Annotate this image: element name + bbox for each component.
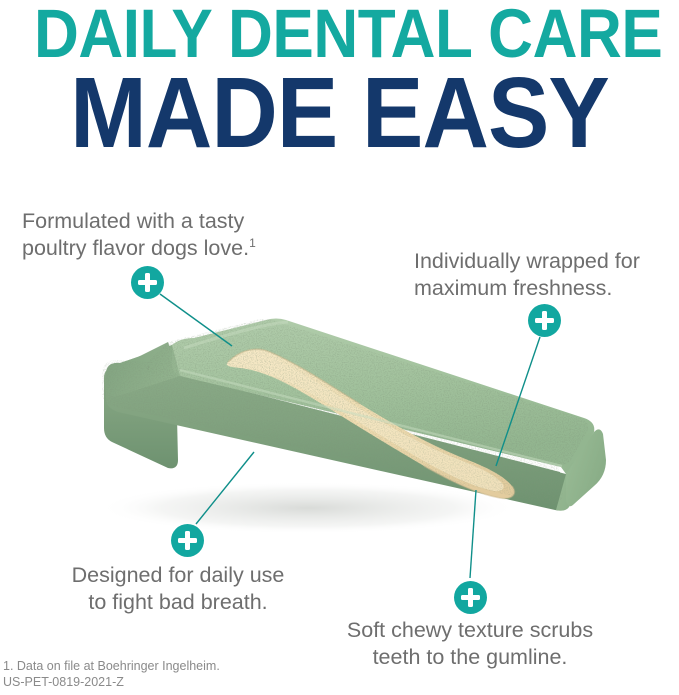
- callout-flavor-line-2: poultry flavor dogs love.1: [22, 235, 256, 262]
- callout-flavor-line-1: Formulated with a tasty: [22, 208, 256, 235]
- callout-breath: Designed for daily use to fight bad brea…: [58, 562, 298, 616]
- plus-icon-flavor[interactable]: [131, 266, 164, 299]
- callout-breath-line-2: to fight bad breath.: [58, 589, 298, 616]
- product-image-dental-chew: [60, 300, 620, 550]
- headline-line-2: MADE EASY: [27, 66, 652, 160]
- callout-texture-line-2: teeth to the gumline.: [326, 644, 614, 671]
- callout-wrapped-line-2: maximum freshness.: [414, 275, 640, 302]
- headline: DAILY DENTAL CARE MADE EASY: [0, 0, 679, 160]
- callout-wrapped: Individually wrapped for maximum freshne…: [414, 248, 640, 302]
- callout-texture-line-1: Soft chewy texture scrubs: [326, 617, 614, 644]
- footnote-line-2: US-PET-0819-2021-Z: [3, 674, 220, 690]
- plus-icon-texture[interactable]: [454, 581, 487, 614]
- plus-icon-breath[interactable]: [171, 524, 204, 557]
- plus-icon-wrapped[interactable]: [528, 304, 561, 337]
- callout-texture: Soft chewy texture scrubs teeth to the g…: [326, 617, 614, 671]
- callout-flavor: Formulated with a tasty poultry flavor d…: [22, 208, 256, 262]
- callout-wrapped-line-1: Individually wrapped for: [414, 248, 640, 275]
- footnote-ref-1: 1: [249, 236, 256, 250]
- infographic-page: DAILY DENTAL CARE MADE EASY: [0, 0, 679, 695]
- callout-breath-line-1: Designed for daily use: [58, 562, 298, 589]
- footnote: 1. Data on file at Boehringer Ingelheim.…: [3, 658, 220, 690]
- callout-flavor-line-2-text: poultry flavor dogs love.: [22, 236, 249, 260]
- footnote-line-1: 1. Data on file at Boehringer Ingelheim.: [3, 658, 220, 674]
